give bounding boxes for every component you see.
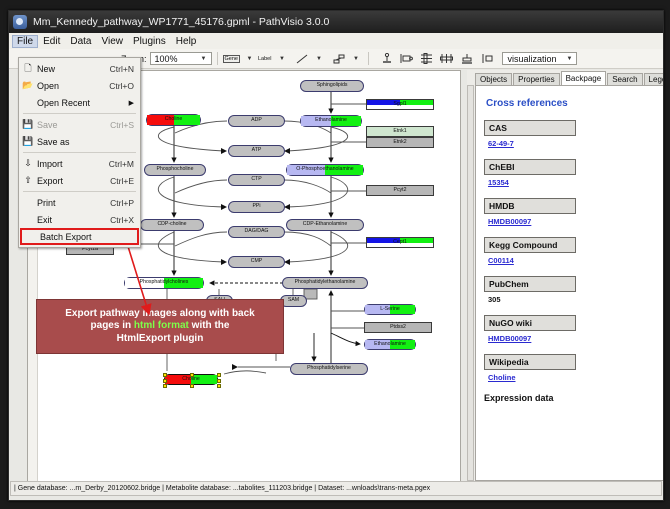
menu-item-accelerator: Ctrl+S	[110, 120, 134, 130]
interaction-tool-icon[interactable]	[331, 52, 346, 66]
menu-item-label: Exit	[37, 215, 110, 225]
menu-help[interactable]: Help	[171, 35, 202, 48]
node-label: Ethanolamine	[374, 342, 406, 347]
menu-file[interactable]: File	[12, 35, 38, 48]
menu-separator	[23, 113, 136, 114]
align-top-icon[interactable]	[379, 52, 394, 66]
new-document-icon: 🗋	[19, 61, 37, 77]
side-panel: Objects Properties Backpage Search Legen…	[467, 70, 664, 485]
menu-item-label: New	[37, 64, 110, 74]
metabolite-node-ethanolamine[interactable]: Ethanolamine	[300, 115, 362, 127]
visualization-value: visualization	[505, 54, 564, 64]
cross-reference-row: CAS62-49-7	[484, 118, 664, 148]
xref-database-name: Kegg Compound	[484, 237, 576, 253]
chevron-down-icon: ▼	[564, 56, 574, 62]
menu-view[interactable]: View	[96, 35, 128, 48]
gene-node-ptdss2[interactable]: Ptdss2	[364, 322, 432, 333]
status-bar: | Gene database: ...m_Derby_20120602.bri…	[10, 481, 662, 496]
gene-node-sgpl1[interactable]: Sgpl1	[366, 99, 434, 110]
chevron-down-icon: ▼	[199, 56, 209, 62]
node-label: Cept1	[393, 240, 407, 245]
menu-item-export[interactable]: ⇧ExportCtrl+E	[19, 172, 140, 189]
xref-database-name: NuGO wiki	[484, 315, 576, 331]
menu-item-exit[interactable]: ExitCtrl+X	[19, 211, 140, 228]
group-icon[interactable]	[479, 52, 494, 66]
metabolite-node-adp[interactable]: ADP	[228, 115, 285, 127]
cross-reference-row: NuGO wikiHMDB00097	[484, 313, 664, 343]
file-menu-popup[interactable]: 🗋NewCtrl+N📂OpenCtrl+OOpen Recent▶💾SaveCt…	[18, 57, 141, 248]
menu-edit[interactable]: Edit	[38, 35, 65, 48]
gene-node-cept1[interactable]: Cept1	[366, 237, 434, 248]
node-label: Choline	[165, 117, 183, 122]
metabolite-node-phosphatidylethanolamine[interactable]: Phosphatidylethanolamine	[282, 277, 368, 289]
node-label: Pcyt2	[394, 188, 407, 193]
menu-separator	[23, 191, 136, 192]
side-panel-scrollbar[interactable]	[467, 85, 474, 481]
metabolite-node-sphingolipids[interactable]: Sphingolipids	[300, 80, 364, 92]
node-label: CDP-choline	[157, 222, 186, 227]
node-label: O-Phosphoethanolamine	[296, 167, 353, 172]
window-title: Mm_Kennedy_pathway_WP1771_45176.gpml - P…	[33, 16, 329, 28]
selection-handle[interactable]	[163, 373, 167, 377]
xref-link[interactable]: 62-49-7	[488, 139, 664, 148]
xref-link[interactable]: HMDB00097	[488, 217, 664, 226]
menu-separator	[23, 152, 136, 153]
menu-item-label: Open	[37, 81, 109, 91]
callout-line3: HtmlExport plugin	[117, 333, 204, 344]
toolbar-separator-2	[368, 52, 369, 65]
node-label: SAM	[288, 298, 299, 303]
xref-value: 305	[488, 295, 664, 304]
xref-database-name: CAS	[484, 120, 576, 136]
selection-handle[interactable]	[190, 373, 194, 377]
gene-node-etnk2[interactable]: Etnk2	[366, 137, 434, 148]
screenshot-root: Mm_Kennedy_pathway_WP1771_45176.gpml - P…	[0, 0, 670, 509]
menu-plugins[interactable]: Plugins	[128, 35, 171, 48]
node-label: Ptdss2	[390, 325, 406, 330]
cross-reference-row: PubChem305	[484, 274, 664, 304]
stack-icon[interactable]	[459, 52, 474, 66]
distribute-icon[interactable]	[419, 52, 434, 66]
save-as-icon: 💾	[19, 136, 37, 147]
menu-item-save[interactable]: 💾SaveCtrl+S	[19, 116, 140, 133]
metabolite-node-phosphatidylcholines[interactable]: Phosphatidylcholines	[124, 277, 204, 289]
expression-data-heading: Expression data	[484, 393, 664, 403]
menu-item-save-as[interactable]: 💾Save as	[19, 133, 140, 150]
tab-legend[interactable]: Legend	[644, 73, 664, 85]
menu-item-accelerator: Ctrl+E	[110, 176, 134, 186]
tab-backpage[interactable]: Backpage	[561, 71, 607, 85]
menu-item-label: Save as	[37, 137, 134, 147]
metabolite-node-cdp-ethanolamine[interactable]: CDP-Ethanolamine	[286, 219, 364, 231]
folder-open-icon: 📂	[19, 80, 37, 91]
selection-handle[interactable]	[217, 384, 221, 388]
cross-reference-row: HMDBHMDB00097	[484, 196, 664, 226]
menu-item-import[interactable]: ⇩ImportCtrl+M	[19, 155, 140, 172]
label-dropdown-icon[interactable]: ▼	[274, 52, 289, 66]
node-label: Phosphatidylcholines	[140, 280, 189, 285]
node-label: Phosphatidylethanolamine	[295, 280, 356, 285]
tab-objects[interactable]: Objects	[475, 73, 512, 85]
align-left-icon[interactable]	[399, 52, 414, 66]
node-label: ADP	[251, 118, 262, 123]
node-label: Phosphocholine	[157, 167, 194, 172]
node-label: Sphingolipids	[317, 83, 348, 88]
menu-item-batch-export[interactable]: Batch Export	[20, 228, 139, 245]
node-label: Phosphatidylserine	[307, 366, 351, 371]
metabolite-node-ethanolamine[interactable]: Ethanolamine	[364, 339, 416, 350]
node-label: CTP	[251, 177, 261, 182]
interaction-dropdown-icon[interactable]: ▼	[348, 52, 363, 66]
xref-link[interactable]: HMDB00097	[488, 334, 664, 343]
line-tool-icon[interactable]	[294, 52, 309, 66]
node-label: Etnk2	[393, 140, 406, 145]
title-bar: Mm_Kennedy_pathway_WP1771_45176.gpml - P…	[9, 11, 663, 33]
menu-item-accelerator: Ctrl+O	[109, 81, 134, 91]
selection-handle[interactable]	[163, 379, 167, 383]
xref-database-name: ChEBI	[484, 159, 576, 175]
xref-database-name: Wikipedia	[484, 354, 576, 370]
menu-item-accelerator: Ctrl+N	[110, 64, 134, 74]
node-label: CDP-Ethanolamine	[303, 222, 347, 227]
metabolite-node-dag-dag[interactable]: DAG/DAG	[228, 226, 285, 238]
datanode-tool-icon[interactable]: Gene	[223, 55, 240, 63]
cross-reference-row: Kegg CompoundC00114	[484, 235, 664, 265]
metabolite-node-phosphatidylserine[interactable]: Phosphatidylserine	[290, 363, 368, 375]
status-text: | Gene database: ...m_Derby_20120602.bri…	[14, 485, 430, 492]
visualization-combo[interactable]: visualization ▼	[502, 52, 577, 65]
callout-line2a: pages in	[91, 320, 134, 331]
node-label: L-Serine	[380, 307, 400, 312]
selection-handle[interactable]	[163, 384, 167, 388]
node-label: Ethanolamine	[315, 118, 347, 123]
node-label: Etnk1	[393, 129, 406, 134]
pathvisio-icon	[13, 15, 27, 29]
pathvisio-window: Mm_Kennedy_pathway_WP1771_45176.gpml - P…	[8, 10, 664, 501]
xref-link[interactable]: C00114	[488, 256, 664, 265]
metabolite-node-cdp-choline[interactable]: CDP-choline	[140, 219, 204, 231]
node-label: ATP	[252, 148, 262, 153]
backpage-content: Cross references CAS62-49-7ChEBI15354HMD…	[475, 85, 664, 481]
node-label: DAG/DAG	[245, 229, 269, 234]
save-icon: 💾	[19, 119, 37, 130]
node-label: Sgpl1	[393, 102, 406, 107]
xref-link[interactable]: Choline	[488, 373, 664, 382]
metabolite-node-choline[interactable]: Choline	[164, 374, 218, 385]
callout-line2c: with the	[189, 320, 230, 331]
node-label: PPi	[252, 204, 260, 209]
cross-references-heading: Cross references	[486, 98, 664, 109]
menu-item-label: Import	[37, 159, 109, 169]
menu-item-open-recent[interactable]: Open Recent▶	[19, 94, 140, 111]
zoom-combo[interactable]: 100% ▼	[150, 52, 212, 65]
metabolite-node-cmp[interactable]: CMP	[228, 256, 285, 268]
menu-item-new[interactable]: 🗋NewCtrl+N	[19, 60, 140, 77]
selection-handle[interactable]	[190, 384, 194, 388]
tab-search[interactable]: Search	[607, 73, 642, 85]
export-icon: ⇧	[19, 175, 37, 186]
gene-node-etnk1[interactable]: Etnk1	[366, 126, 434, 137]
toolbar-separator	[217, 52, 218, 65]
import-icon: ⇩	[19, 158, 37, 169]
menu-item-label: Save	[37, 120, 110, 130]
metabolite-node-l-serine[interactable]: L-Serine	[364, 304, 416, 315]
xref-database-name: HMDB	[484, 198, 576, 214]
cross-reference-row: WikipediaCholine	[484, 352, 664, 382]
tab-properties[interactable]: Properties	[513, 73, 559, 85]
menu-item-open[interactable]: 📂OpenCtrl+O	[19, 77, 140, 94]
label-tool-icon[interactable]: Label	[257, 56, 272, 62]
xref-database-name: PubChem	[484, 276, 576, 292]
line-dropdown-icon[interactable]: ▼	[311, 52, 326, 66]
menu-item-accelerator: Ctrl+M	[109, 159, 134, 169]
xref-link[interactable]: 15354	[488, 178, 664, 187]
metabolite-node-atp[interactable]: ATP	[228, 145, 285, 157]
align-middle-icon[interactable]	[439, 52, 454, 66]
menu-item-print[interactable]: PrintCtrl+P	[19, 194, 140, 211]
cross-reference-list: CAS62-49-7ChEBI15354HMDBHMDB00097Kegg Co…	[476, 118, 664, 382]
callout-highlight: html format	[134, 320, 189, 331]
zoom-value: 100%	[153, 54, 199, 64]
metabolite-node-o-phosphoethanolamine[interactable]: O-Phosphoethanolamine	[286, 164, 364, 176]
menu-item-accelerator: Ctrl+X	[110, 215, 134, 225]
selection-handle[interactable]	[217, 373, 221, 377]
metabolite-node-choline[interactable]: Choline	[146, 114, 201, 126]
gene-node-pcyt2[interactable]: Pcyt2	[366, 185, 434, 196]
menu-item-label: Print	[37, 198, 110, 208]
callout-line1: Export pathway images along with back	[65, 308, 255, 319]
menu-item-label: Export	[37, 176, 110, 186]
menu-item-accelerator: Ctrl+P	[110, 198, 134, 208]
menu-data[interactable]: Data	[65, 35, 96, 48]
side-panel-tabs: Objects Properties Backpage Search Legen…	[475, 70, 664, 85]
selection-handle[interactable]	[217, 379, 221, 383]
metabolite-node-ctp[interactable]: CTP	[228, 174, 285, 186]
metabolite-node-sam[interactable]: SAM	[280, 295, 307, 307]
metabolite-node-phosphocholine[interactable]: Phosphocholine	[144, 164, 206, 176]
node-label: CMP	[251, 259, 263, 264]
menu-item-label: Open Recent	[37, 98, 123, 108]
callout-annotation: Export pathway images along with back pa…	[36, 299, 284, 354]
menu-item-label: Batch Export	[40, 232, 131, 242]
submenu-arrow-icon: ▶	[129, 99, 134, 107]
menu-bar: File Edit Data View Plugins Help	[9, 33, 664, 50]
datanode-dropdown-icon[interactable]: ▼	[242, 52, 257, 66]
cross-reference-row: ChEBI15354	[484, 157, 664, 187]
metabolite-node-ppi[interactable]: PPi	[228, 201, 285, 213]
node-label: Choline	[182, 377, 200, 382]
